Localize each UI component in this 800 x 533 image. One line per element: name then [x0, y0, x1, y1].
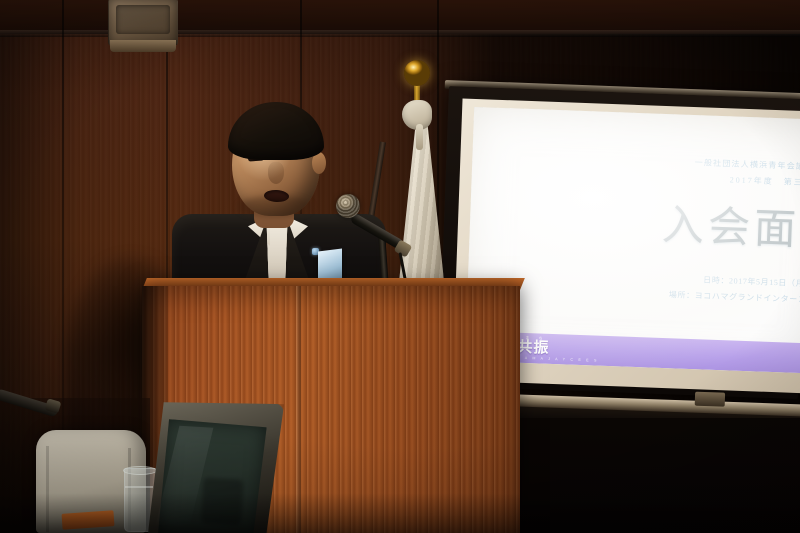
podium-front-edge: [296, 286, 301, 533]
microphone-icon: [336, 194, 360, 218]
water-level-line: [125, 486, 153, 488]
speaker-lip: [110, 40, 176, 52]
rail-clip: [695, 392, 725, 407]
gold-sphere-icon: [404, 60, 430, 86]
slide-venue-line: 場所：ヨコハマグランドインターコンチネンタ: [669, 289, 800, 307]
hair: [228, 102, 324, 160]
lower-wall-dark: [520, 418, 800, 533]
slide-title: 入会面接: [661, 205, 800, 254]
speaker-grille: [116, 5, 170, 34]
ceiling-speaker-icon: [108, 0, 178, 46]
handheld-microphone: [0, 388, 66, 410]
laptop-screen-content: [201, 477, 244, 525]
laptop-device: [148, 396, 284, 533]
photo-scene: 一般社団法人横浜青年会議所 2017年度 第三回 入会面接 日時：2017年5月…: [0, 0, 800, 533]
chair-cover-fold: [46, 446, 49, 532]
slide-organization: 一般社団法人横浜青年会議所: [695, 157, 800, 172]
slide-date-line: 日時：2017年5月15日（月）19:00: [703, 274, 800, 290]
slide-session: 2017年度 第三回: [730, 174, 800, 188]
flag-tassel: [416, 124, 423, 150]
nose: [268, 162, 284, 184]
